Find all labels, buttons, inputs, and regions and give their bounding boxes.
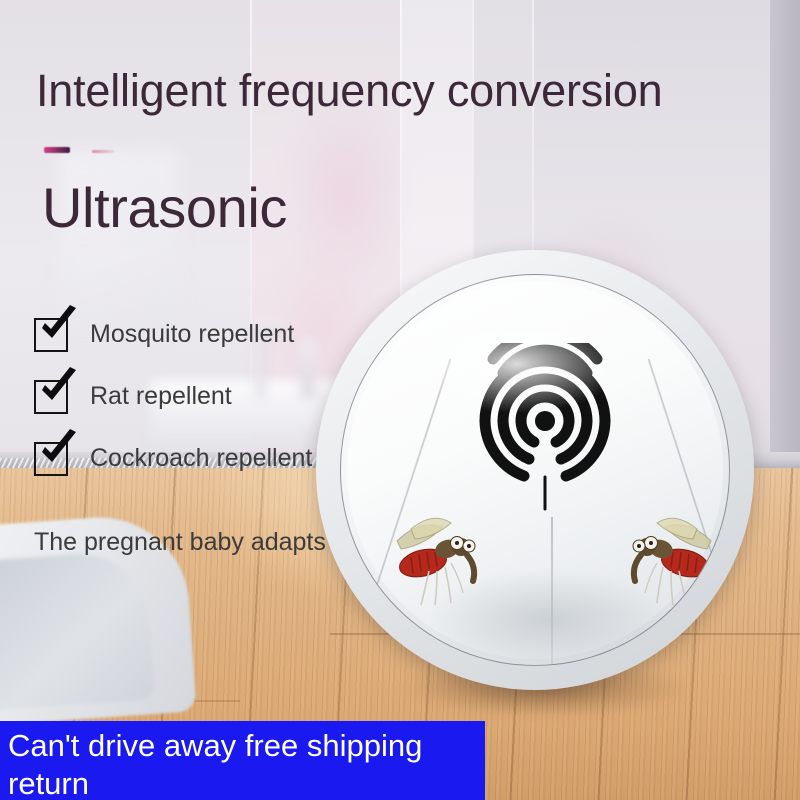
page-title: Intelligent frequency conversion [36,68,662,113]
checkbox-checked-icon [34,318,68,352]
dash-accent-1 [44,147,70,153]
checkbox-checked-icon [34,380,68,414]
list-item-label: Mosquito repellent [90,320,294,349]
list-item: Mosquito repellent [34,312,364,374]
footnote-text: The pregnant baby adapts [34,528,326,557]
title-underline-marks [44,143,214,157]
promo-banner-text: Can't drive away free shipping return [8,727,478,800]
ultrasonic-wave-grille [455,343,635,523]
wall-panel-edge [770,0,800,470]
device-face [340,274,730,666]
list-item: Cockroach repellent [34,436,364,498]
checkbox-checked-icon [34,442,68,476]
list-item-label: Cockroach repellent [90,444,312,473]
product-promo-image: Intelligent frequency conversion Ultraso… [0,0,800,800]
device-face-surface [347,281,723,659]
list-item-label: Rat repellent [90,382,232,411]
feature-list: Mosquito repellent Rat repellent Cockroa… [34,312,364,498]
promo-banner: Can't drive away free shipping return [0,721,485,800]
mosquito-right [611,505,723,609]
dash-accent-2 [92,150,114,153]
ultrasonic-pest-repeller-disc [316,250,754,690]
device-panel-seam-center [551,517,553,666]
list-item: Rat repellent [34,374,364,436]
page-subtitle: Ultrasonic [42,180,287,236]
mosquito-left [385,505,497,609]
